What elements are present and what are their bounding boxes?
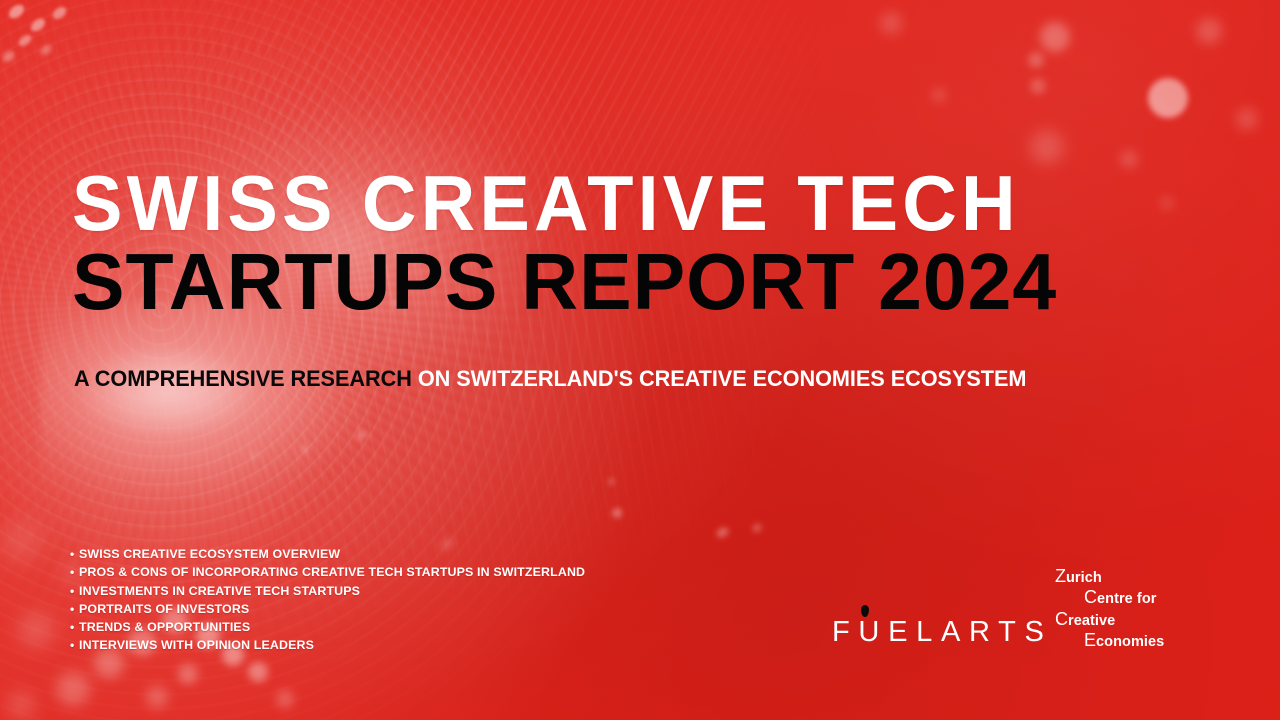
list-item-label: INVESTMENTS IN CREATIVE TECH STARTUPS <box>79 582 360 600</box>
list-item: • INVESTMENTS IN CREATIVE TECH STARTUPS <box>70 582 585 600</box>
zcce-cap-c2: C <box>1055 609 1068 629</box>
bokeh-dot <box>715 525 731 539</box>
bokeh-dot <box>146 686 168 708</box>
bokeh-dot <box>880 12 902 34</box>
fuelarts-u-wrap: U <box>858 618 888 647</box>
bokeh-dot <box>1030 130 1064 164</box>
bokeh-dot <box>1236 108 1258 130</box>
bokeh-dot <box>6 2 26 21</box>
zcce-cap-c1: C <box>1084 587 1097 607</box>
bokeh-dot <box>29 16 48 34</box>
bokeh-dot <box>612 508 622 518</box>
lens-flare-icon <box>40 300 370 500</box>
subtitle-remainder: ON SWITZERLAND'S CREATIVE ECONOMIES ECOS… <box>412 366 1027 391</box>
list-item: • PORTRAITS OF INVESTORS <box>70 600 585 618</box>
bokeh-dot <box>355 430 368 442</box>
bokeh-dot <box>1040 22 1070 52</box>
zcce-cap-e: E <box>1084 630 1096 650</box>
fuelarts-logo-part1: F <box>832 616 858 648</box>
bullet-icon: • <box>70 582 79 600</box>
bokeh-dot <box>39 43 53 57</box>
bokeh-dot <box>1196 18 1222 44</box>
title-line-1: SWISS CREATIVE TECH <box>72 168 1166 240</box>
bullet-icon: • <box>70 545 79 563</box>
bokeh-dot <box>1120 150 1138 168</box>
cover-subtitle: A COMPREHENSIVE RESEARCH ON SWITZERLAND'… <box>74 366 1026 392</box>
report-cover: SWISS CREATIVE TECH STARTUPS REPORT 2024… <box>0 0 1280 720</box>
zcce-line-1: Zurich <box>1055 567 1164 588</box>
bokeh-dot <box>751 522 764 534</box>
bokeh-dot <box>1 49 17 64</box>
list-item-label: TRENDS & OPPORTUNITIES <box>79 618 250 636</box>
contents-list: • SWISS CREATIVE ECOSYSTEM OVERVIEW • PR… <box>70 545 585 655</box>
bullet-icon: • <box>70 636 79 654</box>
bokeh-dot <box>608 478 615 485</box>
bokeh-dot <box>1028 52 1044 68</box>
zcce-cap-z: Z <box>1055 566 1066 586</box>
list-item: • INTERVIEWS WITH OPINION LEADERS <box>70 636 585 654</box>
zcce-line-4-rest: conomies <box>1096 634 1164 650</box>
title-line-2: STARTUPS REPORT 2024 <box>72 244 1183 319</box>
fuelarts-logo: FUELARTS <box>832 618 1053 647</box>
bokeh-dot <box>51 4 69 21</box>
subtitle-emphasis: A COMPREHENSIVE RESEARCH <box>74 366 412 391</box>
bokeh-dot <box>932 88 946 102</box>
zcce-line-2-rest: entre for <box>1097 591 1156 607</box>
zcce-logo: Zurich Centre for Creative Economies <box>1055 567 1164 653</box>
list-item-label: SWISS CREATIVE ECOSYSTEM OVERVIEW <box>79 545 340 563</box>
bokeh-dot <box>0 520 42 562</box>
zcce-line-3: Creative <box>1055 610 1164 631</box>
zcce-line-4: Economies <box>1055 631 1164 652</box>
zcce-line-2: Centre for <box>1055 588 1164 609</box>
list-item-label: PORTRAITS OF INVESTORS <box>79 600 249 618</box>
cover-title: SWISS CREATIVE TECH STARTUPS REPORT 2024 <box>72 168 1200 319</box>
bokeh-dot <box>248 662 268 682</box>
bullet-icon: • <box>70 563 79 581</box>
bokeh-dot <box>1148 78 1188 118</box>
bullet-icon: • <box>70 600 79 618</box>
list-item-label: PROS & CONS OF INCORPORATING CREATIVE TE… <box>79 563 585 581</box>
fuelarts-logo-part2: U <box>858 616 888 648</box>
zcce-line-1-rest: urich <box>1066 570 1102 586</box>
bokeh-dot <box>17 33 34 49</box>
list-item: • SWISS CREATIVE ECOSYSTEM OVERVIEW <box>70 545 585 563</box>
bokeh-dot <box>178 664 198 684</box>
bokeh-dot <box>6 690 36 720</box>
bokeh-dot <box>249 450 259 459</box>
fuelarts-logo-part3: ELARTS <box>888 616 1053 648</box>
list-item: • TRENDS & OPPORTUNITIES <box>70 618 585 636</box>
bokeh-dot <box>276 690 294 708</box>
bokeh-dot <box>299 444 310 454</box>
bullet-icon: • <box>70 618 79 636</box>
bokeh-dot <box>1030 78 1046 94</box>
zcce-line-3-rest: reative <box>1068 613 1115 629</box>
list-item-label: INTERVIEWS WITH OPINION LEADERS <box>79 636 314 654</box>
bokeh-dot <box>56 672 90 706</box>
bokeh-dot <box>18 612 54 648</box>
list-item: • PROS & CONS OF INCORPORATING CREATIVE … <box>70 563 585 581</box>
